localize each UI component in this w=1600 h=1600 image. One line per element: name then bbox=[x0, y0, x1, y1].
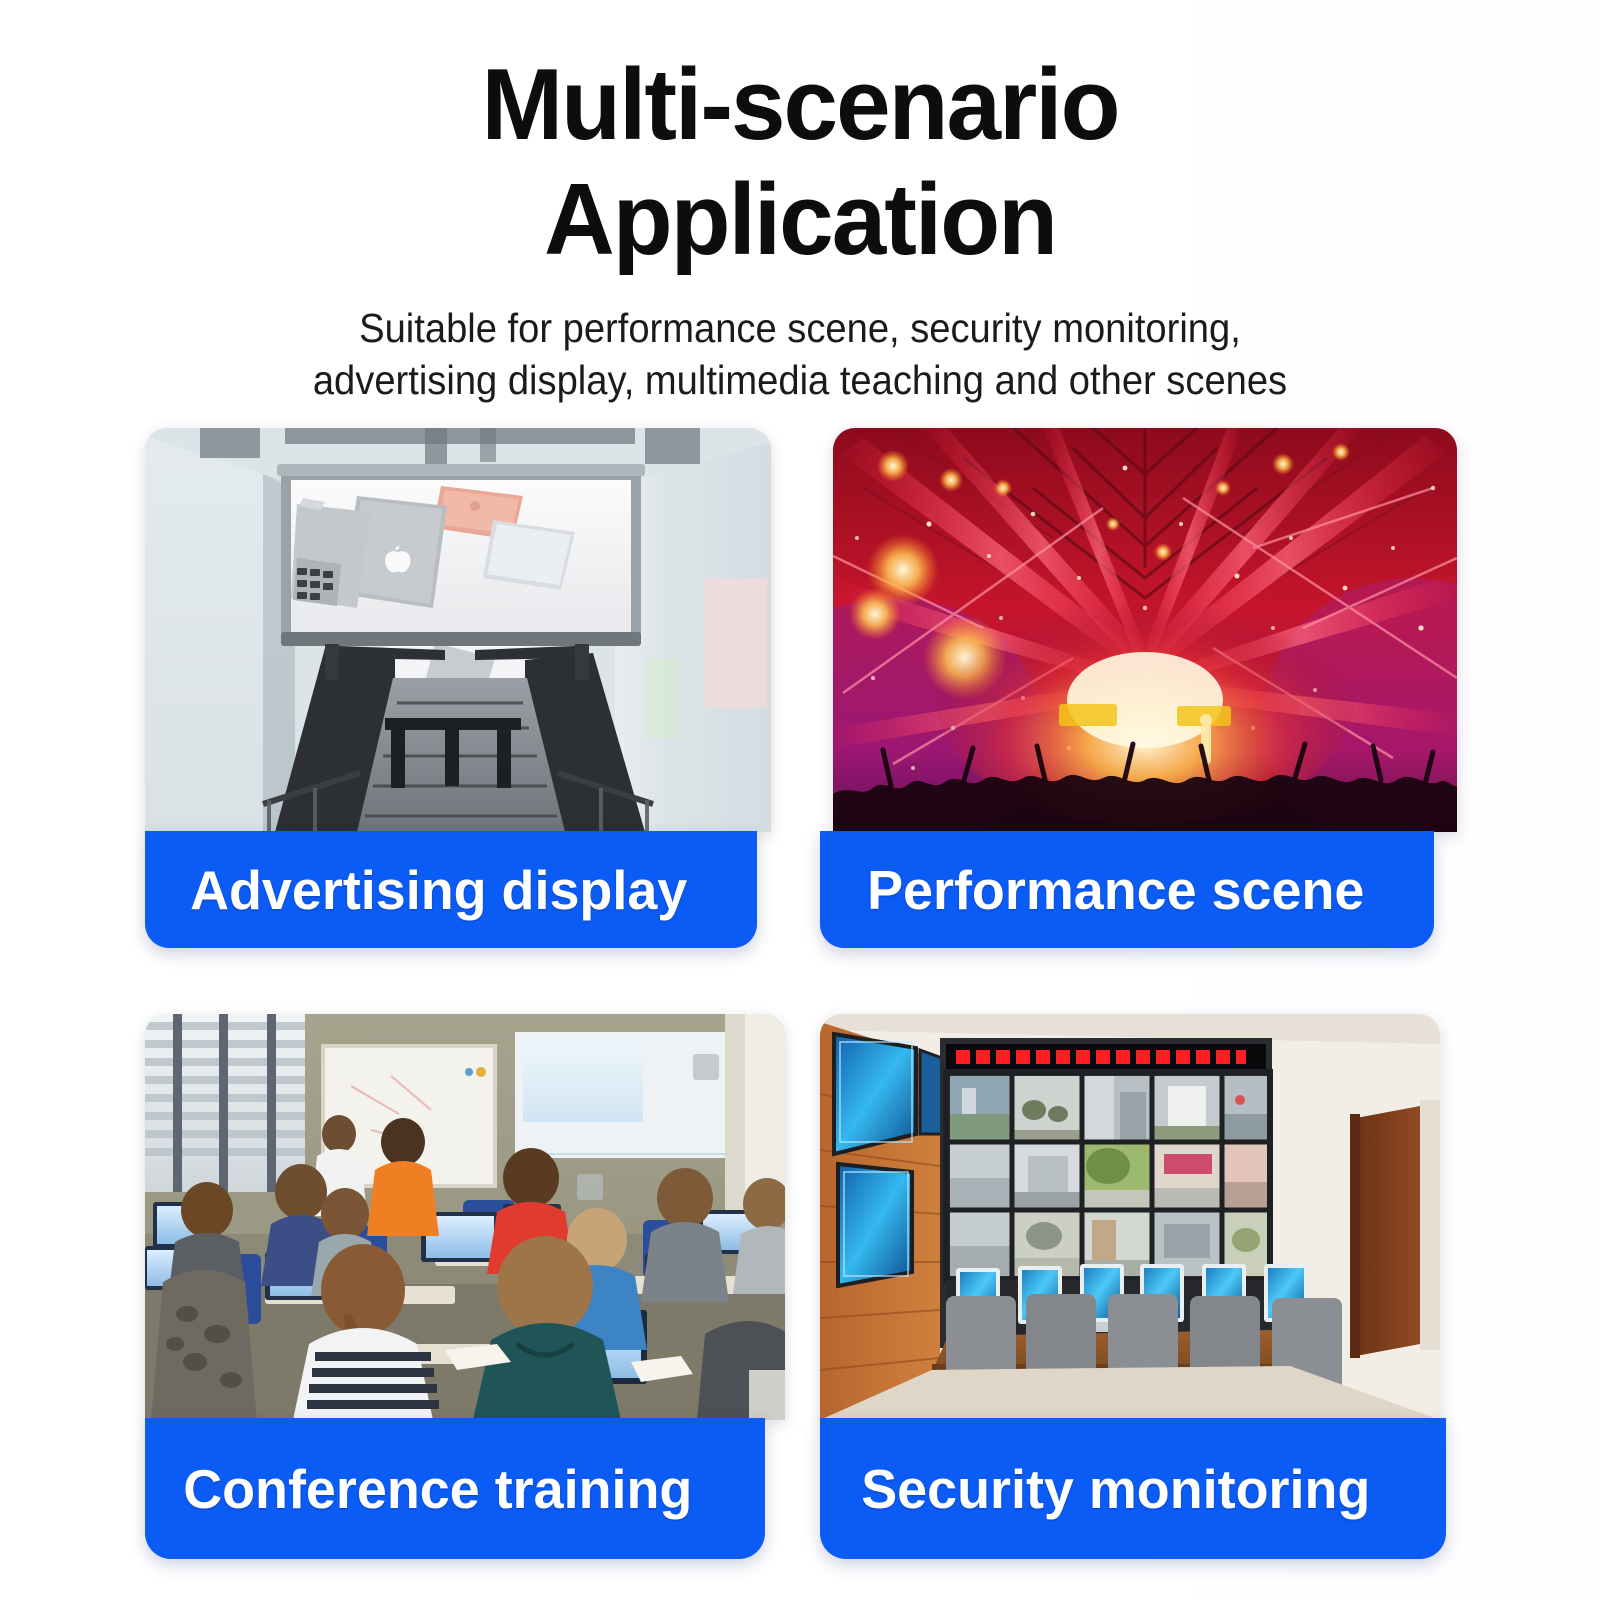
security-monitoring-banner[interactable]: Security monitoring bbox=[820, 1418, 1446, 1559]
advertising-display-label: Advertising display bbox=[190, 858, 687, 922]
advertising-display-banner[interactable]: Advertising display bbox=[145, 831, 757, 948]
scenario-card-grid: Advertising display bbox=[0, 0, 1600, 1600]
performance-scene-banner[interactable]: Performance scene bbox=[820, 831, 1434, 948]
conference-training-photo bbox=[145, 1014, 785, 1420]
product-feature-page: Multi-scenario Application Suitable for … bbox=[0, 0, 1600, 1600]
conference-training-banner[interactable]: Conference training bbox=[145, 1418, 765, 1559]
security-monitoring-photo bbox=[820, 1014, 1440, 1420]
performance-scene-photo bbox=[833, 428, 1457, 832]
security-monitoring-label: Security monitoring bbox=[861, 1457, 1370, 1521]
advertising-display-photo bbox=[145, 428, 771, 832]
conference-training-label: Conference training bbox=[183, 1457, 692, 1521]
performance-scene-label: Performance scene bbox=[867, 858, 1364, 922]
